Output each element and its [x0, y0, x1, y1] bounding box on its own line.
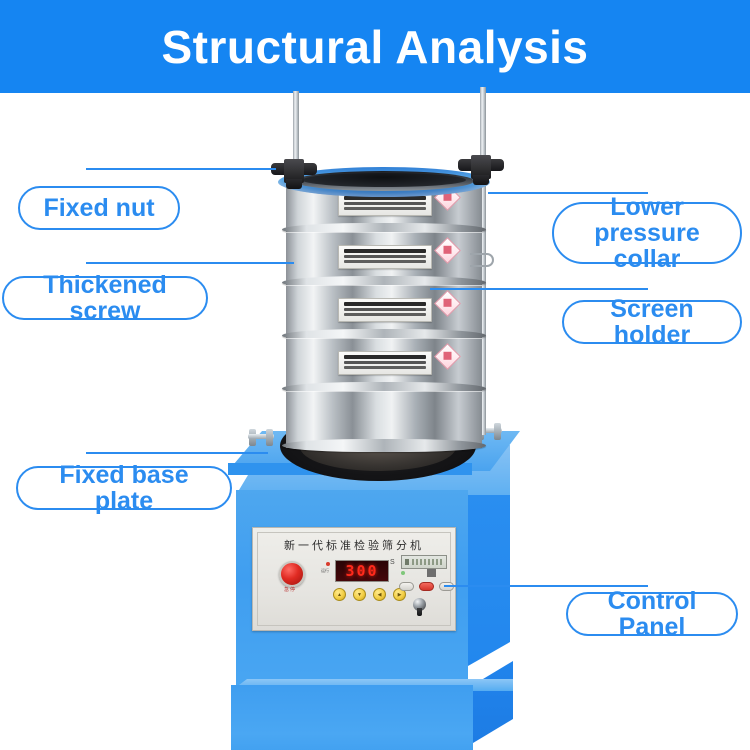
- display-value: 300: [345, 562, 378, 580]
- lcd-icon: [427, 569, 436, 577]
- sieve-label: [338, 245, 432, 269]
- power-led: [401, 571, 405, 575]
- keypad[interactable]: ▲ ▼ ◀ ▶: [333, 588, 406, 601]
- quality-sticker: [434, 290, 461, 317]
- screen-holder: [286, 391, 482, 448]
- run-indicator-led: [326, 562, 330, 566]
- leader-line-fixed-nut: [86, 168, 276, 170]
- header-banner: Structural Analysis: [0, 0, 750, 93]
- digital-display: 300: [335, 560, 389, 582]
- callout-control-panel[interactable]: Control Panel: [566, 592, 738, 636]
- emergency-stop-label: 急停: [275, 586, 305, 593]
- leader-line-fixed-base-plate: [86, 452, 268, 454]
- callout-thickened-screw[interactable]: Thickened screw: [2, 276, 208, 320]
- sieve-handle: [470, 253, 494, 267]
- panel-button-left[interactable]: [399, 582, 414, 591]
- sieve-rim: [282, 439, 486, 452]
- keypad-button-left[interactable]: ◀: [373, 588, 386, 601]
- leader-line-thickened-screw: [86, 262, 294, 264]
- leader-line-screen-holder: [430, 288, 648, 290]
- page-title: Structural Analysis: [161, 24, 588, 70]
- emergency-stop-button[interactable]: [279, 561, 305, 587]
- callout-screen-holder[interactable]: Screen holder: [562, 300, 742, 344]
- fixed-nut-right: [458, 155, 504, 179]
- control-panel-title: 新一代标准检验筛分机: [253, 537, 455, 553]
- sieve-label: [338, 298, 432, 322]
- callout-fixed-base-plate[interactable]: Fixed base plate: [16, 466, 232, 510]
- sieve-stack: [286, 179, 482, 447]
- screen-holder: [286, 232, 482, 285]
- quality-sticker: [434, 237, 461, 264]
- panel-button-stop[interactable]: [419, 582, 434, 591]
- lcd-status-row: [401, 569, 445, 578]
- collar-bore: [302, 173, 466, 187]
- cabinet-plinth-side: [473, 661, 513, 743]
- screen-holder: [286, 285, 482, 338]
- fixed-nut-left: [271, 159, 317, 183]
- keypad-button-up[interactable]: ▲: [333, 588, 346, 601]
- display-unit: S: [390, 559, 395, 566]
- cabinet-side-panel: [468, 466, 510, 666]
- deck-clamp-left: [248, 429, 274, 447]
- clamp-bolt: [494, 423, 501, 440]
- timer-lcd: [401, 555, 447, 569]
- screen-holder: [286, 338, 482, 391]
- keypad-button-down[interactable]: ▼: [353, 588, 366, 601]
- control-panel[interactable]: 新一代标准检验筛分机 急停 运行 300 S ▲ ▼ ◀ ▶: [252, 527, 456, 631]
- sieve-label: [338, 351, 432, 375]
- structural-analysis-infographic: Structural Analysis: [0, 0, 750, 750]
- clamp-bolt: [266, 429, 273, 446]
- run-indicator-label: 运行: [321, 568, 329, 574]
- cabinet-plinth-front: [231, 685, 473, 750]
- quality-sticker: [434, 343, 461, 370]
- callout-fixed-nut[interactable]: Fixed nut: [18, 186, 180, 230]
- speed-knob[interactable]: [413, 598, 426, 616]
- callout-lower-pressure-collar[interactable]: Lower pressure collar: [552, 202, 742, 264]
